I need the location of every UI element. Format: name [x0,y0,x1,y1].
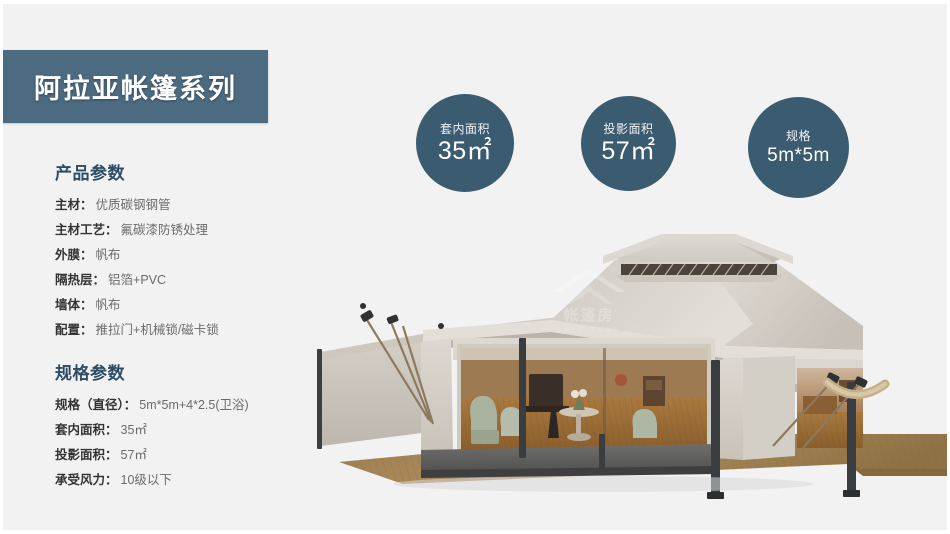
badge-projected-area: 投影面积 57㎡ [581,96,676,191]
spec-label: 外膜： [55,248,93,262]
watermark-label: 帐篷房 [563,306,614,324]
badge-label: 套内面积 [440,123,490,135]
list-item: 主材：优质碳钢钢管 [55,193,355,218]
spec-label: 墙体： [55,298,93,312]
base-plinth [421,444,717,478]
badge-interior-area: 套内面积 35㎡ [416,94,514,192]
spec-label: 配置： [55,323,93,337]
badge-value: 5m*5m [767,146,830,165]
spec-label: 主材工艺： [55,223,118,237]
spec-label: 主材： [55,198,93,212]
page-title: 阿拉亚帐篷系列 [28,67,237,106]
ground-shadow [393,476,813,492]
spec-label: 规格（直径）： [55,398,136,412]
spec-value: 10级以下 [118,473,172,487]
badge-value: 35㎡ [438,139,492,164]
badge-label: 投影面积 [603,123,653,135]
spec-value: 帆布 [93,298,121,312]
product-params-heading: 产品参数 [55,159,355,184]
badge-dimensions: 规格 5m*5m [748,97,849,198]
top-cap-roof [603,234,793,282]
spec-label: 投影面积： [55,448,118,462]
metric-badges: 套内面积 35㎡ 投影面积 57㎡ 规格 5m*5m [413,94,853,198]
watermark-sublabel: SPLF TENT [557,327,622,334]
spec-label: 承受风力： [55,473,118,487]
spec-label: 套内面积： [55,423,118,437]
product-spec-page: 阿拉亚帐篷系列 产品参数 主材：优质碳钢钢管 主材工艺：氟碳漆防锈处理 外膜：帆… [0,0,950,534]
spec-value: 铝箔+PVC [105,273,166,287]
spec-label: 隔热层： [55,273,105,287]
badge-label: 规格 [786,130,811,142]
page-title-banner: 阿拉亚帐篷系列 [0,50,268,123]
spec-value: 推拉门+机械锁/磁卡锁 [93,323,219,337]
spec-value: 氟碳漆防锈处理 [118,223,209,237]
badge-value: 57㎡ [601,139,655,164]
tent-illustration: 帐篷房 SPLF TENT [303,234,950,534]
spec-value: 35㎡ [118,423,147,437]
tent-render-svg: 帐篷房 SPLF TENT [303,234,950,534]
spec-value: 优质碳钢钢管 [93,198,171,212]
spec-value: 5m*5m+4*2.5(卫浴) [136,398,248,412]
spec-value: 57㎡ [118,448,147,462]
spec-value: 帆布 [93,248,121,262]
